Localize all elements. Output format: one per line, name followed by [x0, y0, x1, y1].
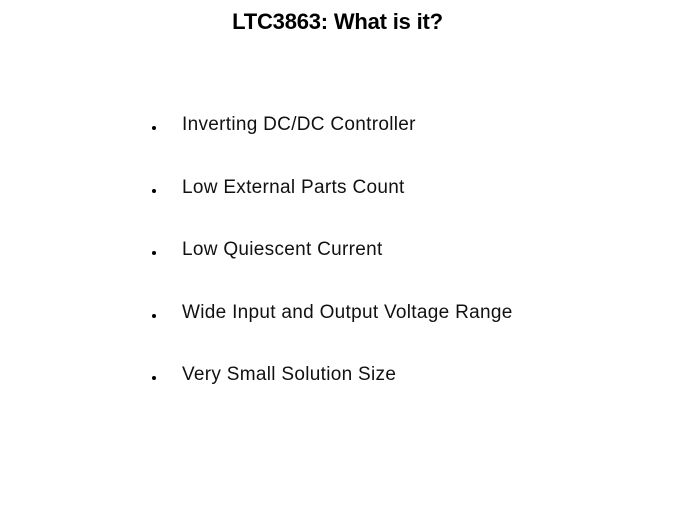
bullet-dot-icon: [152, 126, 156, 130]
page-title: LTC3863: What is it?: [0, 9, 675, 35]
presentation-slide: LTC3863: What is it? Inverting DC/DC Con…: [0, 0, 675, 506]
list-item: Inverting DC/DC Controller: [152, 112, 632, 175]
bullet-list: Inverting DC/DC Controller Low External …: [152, 112, 632, 425]
list-item-label: Low Quiescent Current: [182, 237, 383, 263]
list-item-label: Wide Input and Output Voltage Range: [182, 300, 513, 326]
bullet-dot-icon: [152, 251, 156, 255]
list-item-label: Inverting DC/DC Controller: [182, 112, 416, 138]
bullet-dot-icon: [152, 189, 156, 193]
bullet-dot-icon: [152, 376, 156, 380]
list-item-label: Very Small Solution Size: [182, 362, 396, 388]
list-item: Low Quiescent Current: [152, 237, 632, 300]
bullet-dot-icon: [152, 314, 156, 318]
list-item: Wide Input and Output Voltage Range: [152, 300, 632, 363]
list-item: Low External Parts Count: [152, 175, 632, 238]
list-item-label: Low External Parts Count: [182, 175, 405, 201]
list-item: Very Small Solution Size: [152, 362, 632, 425]
